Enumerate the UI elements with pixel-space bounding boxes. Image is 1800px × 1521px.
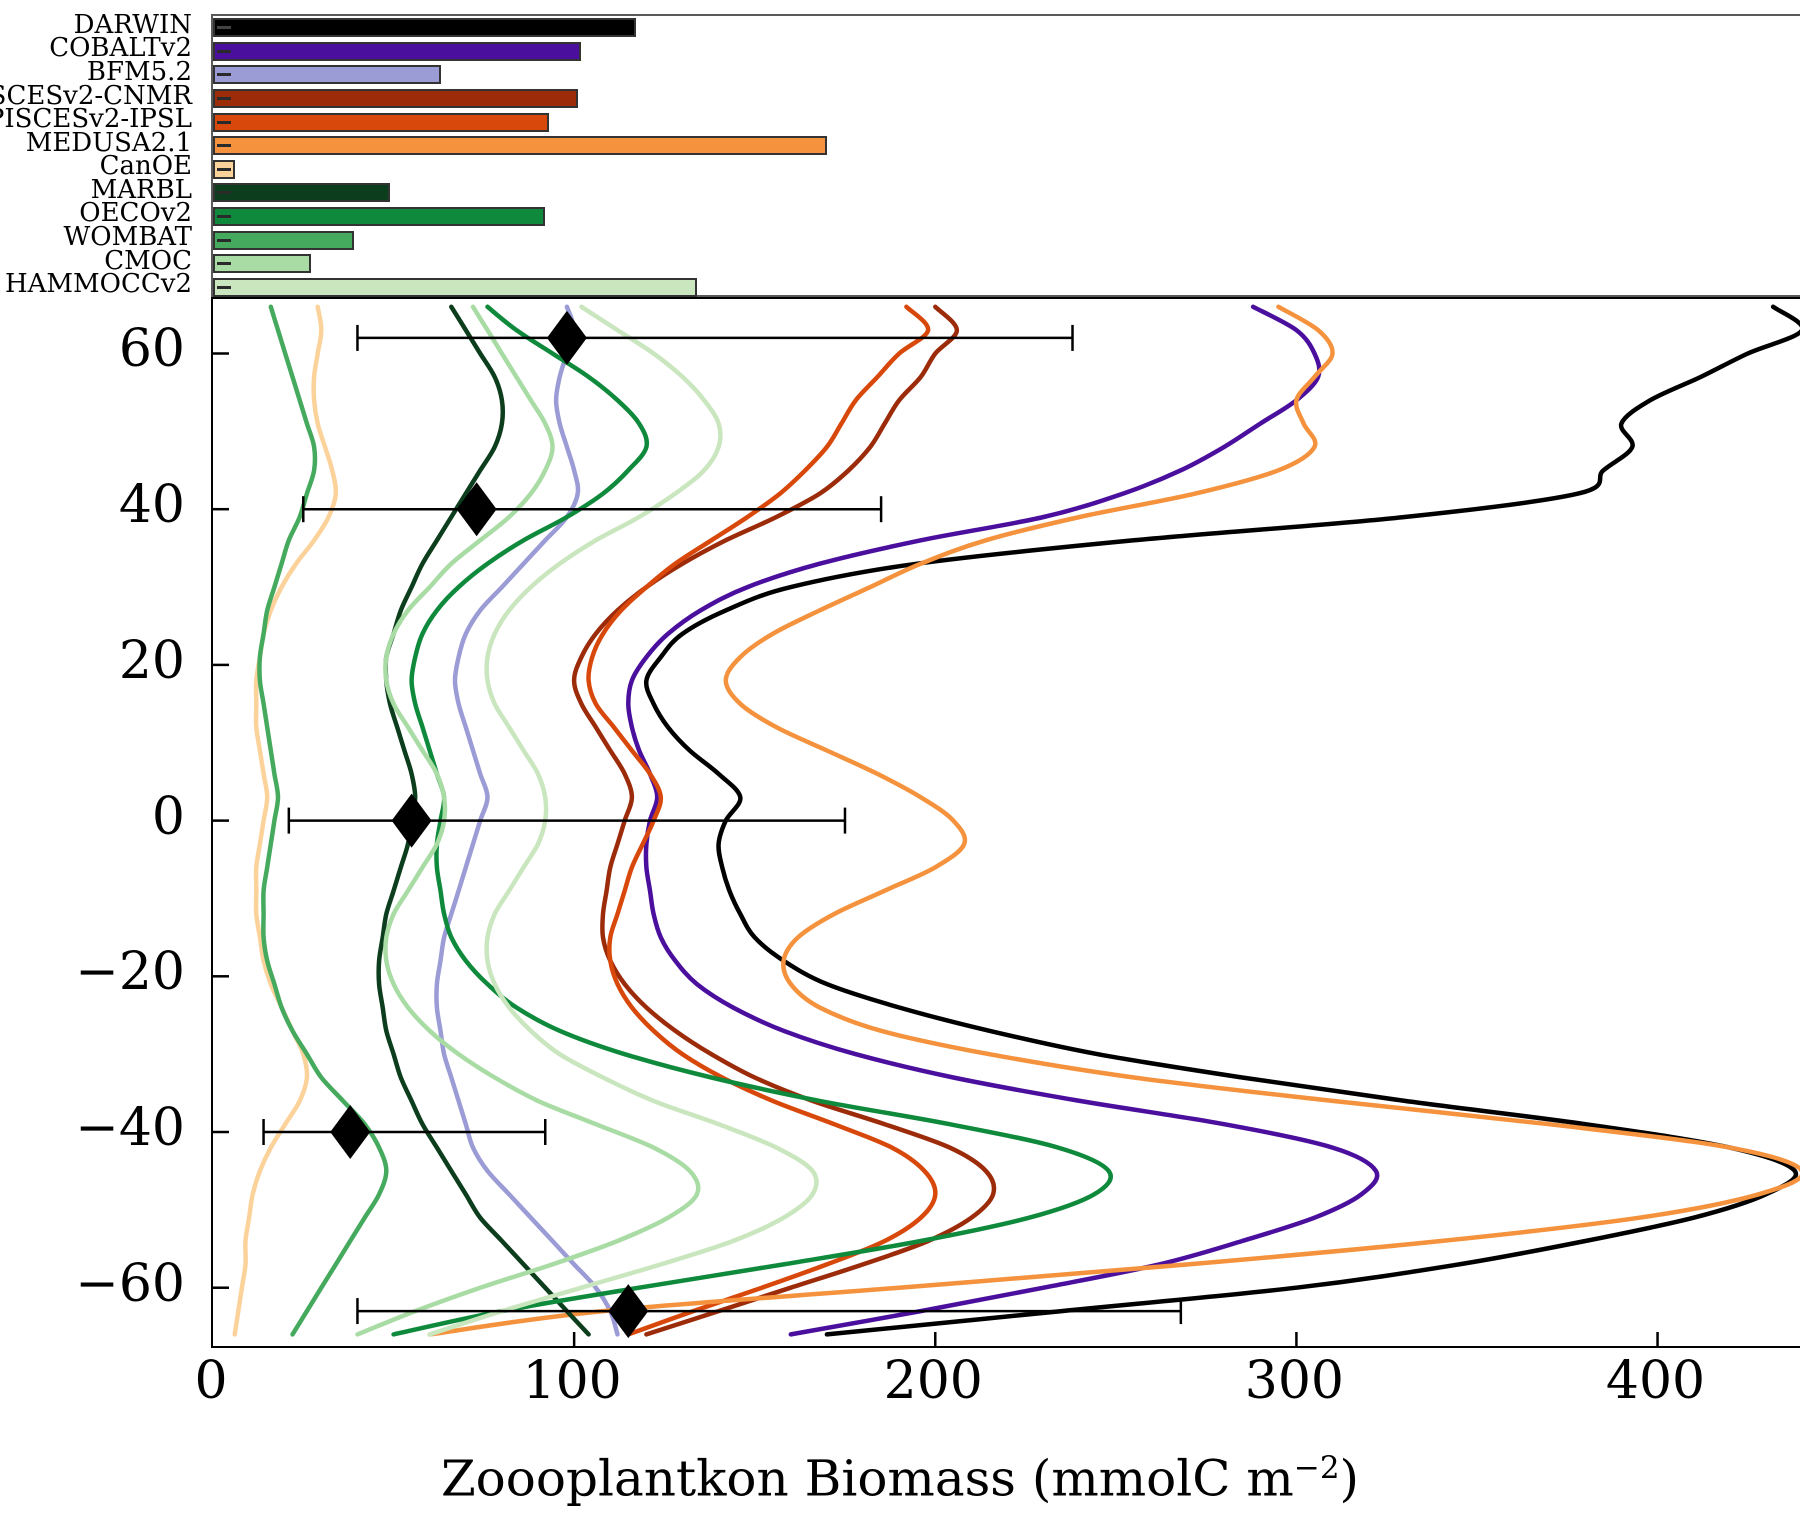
y-tick-40: 40: [0, 479, 185, 531]
bar-color-swatch-tick: [217, 239, 231, 242]
bar-row: [213, 278, 1800, 297]
x-tick-200: 200: [833, 1355, 1033, 1407]
y-tick-20: 20: [0, 635, 185, 687]
bar-bfm5-2: [213, 65, 441, 84]
bar-color-swatch-tick: [217, 97, 231, 100]
bar-label-column: DARWINCOBALTv2BFM5.2PISCESv2-CNMRPISCESv…: [0, 14, 200, 297]
bar-row: [213, 136, 1800, 155]
x-tick-300: 300: [1194, 1355, 1394, 1407]
observation-point: [357, 311, 1072, 365]
x-axis-title-prefix: Zoooplantkon Biomass (mmolC m: [441, 1450, 1294, 1508]
observation-point: [264, 1105, 546, 1159]
bar-row: [213, 254, 1800, 273]
bar-hammoccv2: [213, 278, 697, 297]
zonal-mean-plot-area: [211, 297, 1800, 1348]
bar-marbl: [213, 183, 390, 202]
observation-diamond-marker: [457, 482, 497, 536]
bar-row: [213, 89, 1800, 108]
observation-diamond-marker: [547, 311, 587, 365]
bar-row: [213, 231, 1800, 250]
observation-diamond-marker: [392, 794, 432, 848]
bar-cobaltv2: [213, 42, 581, 61]
profile-curves: [213, 299, 1800, 1348]
x-tick-100: 100: [472, 1355, 672, 1407]
bar-color-swatch-tick: [217, 286, 231, 289]
bar-oecov2: [213, 207, 545, 226]
bar-row: [213, 42, 1800, 61]
bar-color-swatch-tick: [217, 73, 231, 76]
x-axis-title-suffix: ): [1340, 1450, 1360, 1508]
bar-color-swatch-tick: [217, 262, 231, 265]
observation-point: [357, 1284, 1180, 1338]
model-bar-legend-panel: DARWINCOBALTv2BFM5.2PISCESv2-CNMRPISCESv…: [0, 0, 1800, 297]
y-tick-60: 60: [0, 323, 185, 375]
y-tick-0: 0: [0, 791, 185, 843]
bar-plot-area: [211, 14, 1800, 297]
observation-point: [289, 794, 845, 848]
observation-diamond-marker: [330, 1105, 370, 1159]
bar-row: [213, 18, 1800, 37]
bar-row: [213, 113, 1800, 132]
bar-label-hammoccv2: HAMMOCCv2: [5, 271, 192, 297]
bar-wombat: [213, 231, 354, 250]
y-tick-neg20: −20: [0, 946, 185, 998]
x-axis-title: Zoooplantkon Biomass (mmolC m−2): [0, 1440, 1800, 1507]
bar-row: [213, 160, 1800, 179]
bar-color-swatch-tick: [217, 168, 231, 171]
bar-color-swatch-tick: [217, 50, 231, 53]
x-axis-title-exponent: −2: [1294, 1450, 1340, 1486]
y-tick-neg40: −40: [0, 1102, 185, 1154]
bar-color-swatch-tick: [217, 121, 231, 124]
bar-medusa2-1: [213, 136, 827, 155]
bar-darwin: [213, 18, 636, 37]
bar-piscesv2-cnmr: [213, 89, 578, 108]
x-tick-0: 0: [111, 1355, 311, 1407]
bar-color-swatch-tick: [217, 144, 231, 147]
x-tick-400: 400: [1556, 1355, 1756, 1407]
figure-root: DARWINCOBALTv2BFM5.2PISCESv2-CNMRPISCESv…: [0, 0, 1800, 1521]
bar-row: [213, 65, 1800, 84]
bar-piscesv2-ipsl: [213, 113, 549, 132]
bar-row: [213, 183, 1800, 202]
bar-color-swatch-tick: [217, 191, 231, 194]
bar-color-swatch-tick: [217, 26, 231, 29]
y-tick-neg60: −60: [0, 1258, 185, 1310]
bar-row: [213, 207, 1800, 226]
bar-color-swatch-tick: [217, 215, 231, 218]
observation-point: [303, 482, 881, 536]
